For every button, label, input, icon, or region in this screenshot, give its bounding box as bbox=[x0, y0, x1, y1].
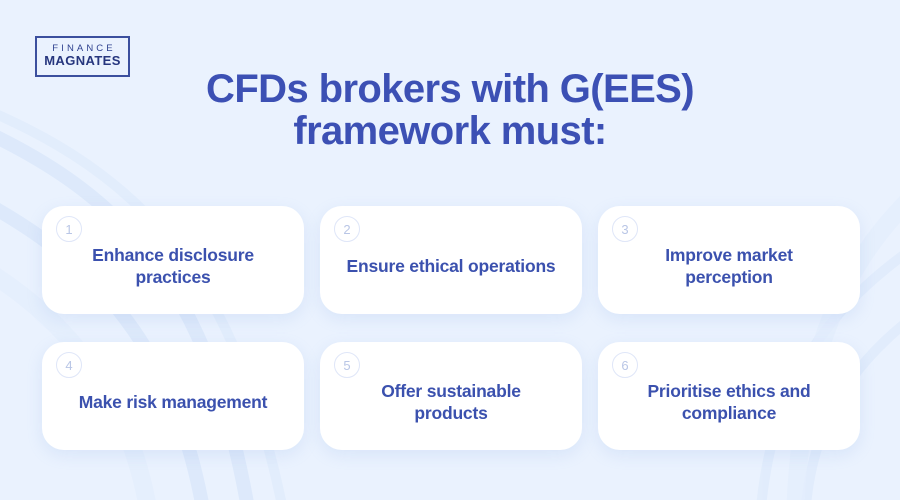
page-title: CFDs brokers with G(EES) framework must: bbox=[0, 68, 900, 153]
card-label: Offer sustainable products bbox=[346, 380, 556, 424]
card-label: Prioritise ethics and compliance bbox=[624, 380, 834, 424]
requirement-card-1[interactable]: 1 Enhance disclosure practices bbox=[42, 206, 304, 314]
card-label: Ensure ethical operations bbox=[347, 255, 556, 277]
requirement-card-6[interactable]: 6 Prioritise ethics and compliance bbox=[598, 342, 860, 450]
requirement-card-2[interactable]: 2 Ensure ethical operations bbox=[320, 206, 582, 314]
card-label: Make risk management bbox=[79, 391, 268, 413]
page-title-line-2: framework must: bbox=[0, 110, 900, 152]
requirement-card-3[interactable]: 3 Improve market perception bbox=[598, 206, 860, 314]
page-title-line-1: CFDs brokers with G(EES) bbox=[0, 68, 900, 110]
card-number-badge: 2 bbox=[334, 216, 360, 242]
card-number-badge: 4 bbox=[56, 352, 82, 378]
card-number-badge: 3 bbox=[612, 216, 638, 242]
card-label: Improve market perception bbox=[624, 244, 834, 288]
card-label: Enhance disclosure practices bbox=[68, 244, 278, 288]
card-number-badge: 6 bbox=[612, 352, 638, 378]
card-number-badge: 1 bbox=[56, 216, 82, 242]
requirement-card-5[interactable]: 5 Offer sustainable products bbox=[320, 342, 582, 450]
requirements-grid: 1 Enhance disclosure practices 2 Ensure … bbox=[42, 206, 860, 450]
card-number-badge: 5 bbox=[334, 352, 360, 378]
requirement-card-4[interactable]: 4 Make risk management bbox=[42, 342, 304, 450]
